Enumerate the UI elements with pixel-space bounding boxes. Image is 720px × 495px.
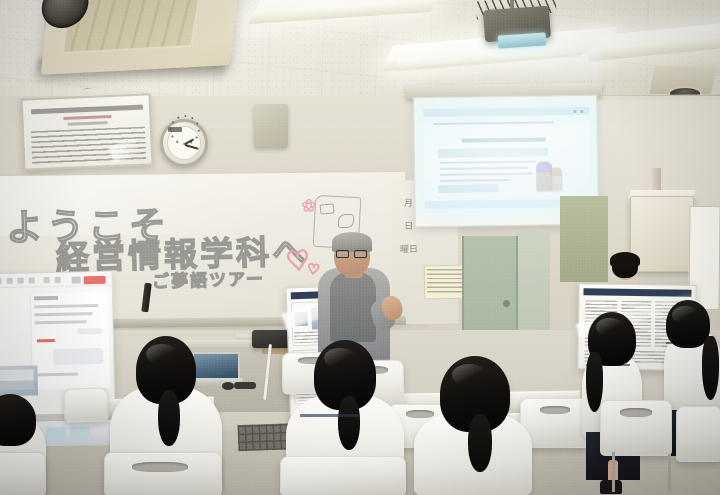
slide-toolbar-dot-1 (573, 110, 576, 113)
student-foreground-left-ponytail (158, 390, 180, 446)
toolbar-icon-2[interactable] (7, 278, 13, 284)
strip-tile-4 (70, 426, 90, 440)
chat-bubble-outgoing (77, 328, 103, 335)
computer-mouse[interactable] (222, 382, 234, 390)
whiteboard-text-subtitle: ご夢語ツアー (152, 265, 266, 293)
door-knob-icon[interactable] (503, 300, 510, 307)
date-label-day: 日 (404, 219, 413, 232)
date-label-month: 月 (404, 196, 413, 209)
slide-url-bar (434, 121, 554, 125)
chair-front-right-2[interactable] (676, 406, 720, 462)
strip-tile-3 (46, 427, 66, 441)
toolbar-icon-4[interactable] (29, 277, 35, 283)
slide-body-line-4 (440, 179, 510, 182)
chair-foreground-center[interactable] (280, 456, 406, 495)
chair-right-mid-3-handle (540, 406, 570, 414)
toolbar-icon-6[interactable] (55, 277, 61, 283)
classroom-photo: ようこそ 経営情報学科へ ご夢語ツアー ♡ ♡ ✿ 月 日 曜日 (0, 0, 720, 495)
student-right-front-shoe (600, 480, 622, 494)
desk-cables (234, 382, 256, 389)
toolbar-icon-5[interactable] (44, 277, 50, 283)
lecturer-vest (330, 272, 376, 342)
chat-bubble-incoming (53, 348, 103, 365)
framed-wall-notice (21, 93, 154, 170)
clock-minute-hand (185, 144, 199, 149)
chair-front-right-1-leg (612, 452, 615, 492)
slide-body-line-2 (440, 167, 528, 171)
toolbar-icon-1[interactable] (0, 278, 2, 284)
chair-foreground-left-handle (132, 462, 188, 472)
ceiling-air-conditioner (41, 0, 240, 75)
student-foreground-right-ponytail (468, 414, 492, 472)
projected-slide (423, 107, 590, 209)
chair-far-left[interactable] (0, 452, 46, 495)
toolbar-icon-3[interactable] (18, 278, 24, 284)
whiteboard-heart-small-icon: ♡ (306, 261, 321, 279)
student-right-front-hair-gloss (596, 318, 624, 336)
whiteboard-doodle-detail-1 (320, 203, 335, 214)
poster-right-header-bar (583, 288, 691, 297)
slide-toolbar-dot-2 (580, 109, 583, 112)
chair-foreground-left[interactable] (104, 452, 222, 495)
student-foreground-left-hair-gloss (146, 344, 178, 364)
toolbar-secondary-button[interactable] (72, 276, 81, 283)
screen-photo-inner (0, 369, 34, 390)
student-right-back-ponytail (702, 336, 719, 400)
slide-title-text (462, 137, 546, 142)
date-label-weekday: 曜日 (400, 242, 418, 255)
student-foreground-center-ponytail (338, 396, 360, 450)
whiteboard-flower-icon: ✿ (302, 196, 315, 215)
chair-front-right-2-leg (668, 454, 671, 492)
slide-figure-2 (550, 167, 562, 191)
notice-title-bar (31, 105, 143, 115)
chair-left-back[interactable] (63, 387, 108, 423)
clock-face-inner (167, 126, 201, 160)
clock-brand-mark (168, 127, 182, 132)
podium-laptop-screen[interactable] (192, 352, 240, 380)
lecturer-hair (332, 232, 372, 252)
eyeglasses-left-lens-icon (336, 250, 349, 258)
chair-front-right-1-handle (620, 408, 652, 417)
panel-link-highlighted[interactable] (37, 339, 55, 342)
notice-subtitle-bar-2 (68, 121, 108, 126)
slide-browser-toolbar (423, 107, 589, 117)
wall-speaker (254, 104, 288, 148)
chair-right-mid-2-handle (406, 410, 434, 418)
slide-body-line-3 (440, 173, 532, 177)
panel-heading (34, 296, 58, 300)
slide-highlight-band-2 (438, 184, 498, 193)
slide-highlight-band (438, 147, 548, 158)
whiteboard-doodle-detail-2 (338, 214, 354, 228)
student-foreground-right-hair-gloss (452, 364, 486, 386)
student-back-right-hair (610, 252, 640, 268)
student-right-back-hair-gloss (672, 306, 698, 324)
slide-body-line-1 (440, 161, 536, 165)
notice-subtitle-bar (63, 115, 111, 120)
student-foreground-center-hair-gloss (324, 348, 356, 368)
student-foreground-center-collar-trim (300, 414, 358, 417)
primary-action-button[interactable] (84, 275, 106, 283)
wall-green-panel (560, 196, 608, 282)
eyeglasses-right-lens-icon (354, 250, 367, 258)
